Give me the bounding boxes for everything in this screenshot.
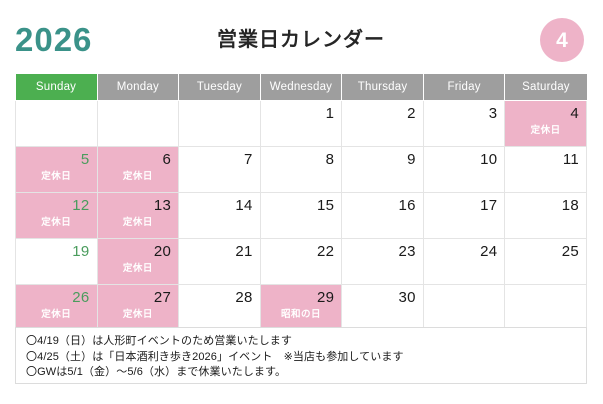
note-line: 〇4/19（日）は人形町イベントのため営業いたします: [26, 334, 576, 350]
calendar-day-cell[interactable]: 24: [423, 239, 505, 285]
day-number: 1: [261, 101, 342, 122]
calendar-day-cell[interactable]: 6定休日: [97, 147, 179, 193]
weekday-header-friday: Friday: [423, 74, 505, 101]
day-status-label: 昭和の日: [261, 309, 342, 321]
day-number: 4: [505, 101, 586, 122]
calendar-day-cell[interactable]: 23: [342, 239, 424, 285]
calendar-day-cell[interactable]: 30: [342, 285, 424, 331]
calendar-header: 2026 営業日カレンダー 4: [15, 10, 587, 70]
day-number: [98, 101, 179, 105]
weekday-header-sunday: Sunday: [16, 74, 98, 101]
day-number: 24: [424, 239, 505, 260]
calendar-day-cell[interactable]: 18: [505, 193, 587, 239]
day-status-label: 定休日: [98, 263, 179, 275]
calendar-week-row: 5定休日6定休日7891011: [16, 147, 587, 193]
note-line: 〇GWは5/1（金）〜5/6（水）まで休業いたします。: [26, 365, 576, 381]
calendar-day-cell[interactable]: 9: [342, 147, 424, 193]
calendar-week-row: 1234定休日: [16, 101, 587, 147]
day-number: 26: [16, 285, 97, 306]
day-number: 29: [261, 285, 342, 306]
day-number: 7: [179, 147, 260, 168]
calendar-day-cell[interactable]: 29昭和の日: [260, 285, 342, 331]
calendar-day-cell[interactable]: 20定休日: [97, 239, 179, 285]
day-number: 5: [16, 147, 97, 168]
calendar-day-cell[interactable]: 7: [179, 147, 261, 193]
weekday-header-wednesday: Wednesday: [260, 74, 342, 101]
day-status-label: 定休日: [16, 309, 97, 321]
day-number: 18: [505, 193, 586, 214]
calendar-day-cell[interactable]: 25: [505, 239, 587, 285]
day-number: 11: [505, 147, 586, 168]
calendar-day-cell[interactable]: 10: [423, 147, 505, 193]
calendar-day-cell[interactable]: 5定休日: [16, 147, 98, 193]
day-number: 30: [342, 285, 423, 306]
day-number: 21: [179, 239, 260, 260]
day-status-label: 定休日: [98, 171, 179, 183]
day-number: 20: [98, 239, 179, 260]
day-number: 16: [342, 193, 423, 214]
day-number: 13: [98, 193, 179, 214]
calendar-week-row: 26定休日27定休日2829昭和の日30: [16, 285, 587, 331]
day-status-label: 定休日: [98, 217, 179, 229]
calendar-day-cell[interactable]: 16: [342, 193, 424, 239]
calendar-empty-cell: [16, 101, 98, 147]
calendar-empty-cell: [423, 285, 505, 331]
day-status-label: 定休日: [16, 217, 97, 229]
day-number: 3: [424, 101, 505, 122]
calendar-day-cell[interactable]: 22: [260, 239, 342, 285]
weekday-header-saturday: Saturday: [505, 74, 587, 101]
day-number: 9: [342, 147, 423, 168]
calendar-header-row: Sunday Monday Tuesday Wednesday Thursday…: [16, 74, 587, 101]
day-number: [505, 285, 586, 289]
weekday-header-thursday: Thursday: [342, 74, 424, 101]
calendar-empty-cell: [179, 101, 261, 147]
day-number: 17: [424, 193, 505, 214]
calendar-day-cell[interactable]: 17: [423, 193, 505, 239]
day-number: 12: [16, 193, 97, 214]
month-badge: 4: [540, 18, 584, 62]
calendar-day-cell[interactable]: 8: [260, 147, 342, 193]
day-number: 6: [98, 147, 179, 168]
calendar-day-cell[interactable]: 3: [423, 101, 505, 147]
day-number: [16, 101, 97, 105]
day-status-label: 定休日: [16, 171, 97, 183]
calendar-day-cell[interactable]: 27定休日: [97, 285, 179, 331]
day-number: 28: [179, 285, 260, 306]
weekday-header-monday: Monday: [97, 74, 179, 101]
calendar-day-cell[interactable]: 28: [179, 285, 261, 331]
calendar-day-cell[interactable]: 26定休日: [16, 285, 98, 331]
page-title: 営業日カレンダー: [15, 26, 587, 54]
calendar-day-cell[interactable]: 15: [260, 193, 342, 239]
calendar-day-cell[interactable]: 13定休日: [97, 193, 179, 239]
calendar-grid: Sunday Monday Tuesday Wednesday Thursday…: [15, 74, 587, 331]
calendar-week-row: 12定休日13定休日1415161718: [16, 193, 587, 239]
calendar-page: 2026 営業日カレンダー 4 Sunday Monday Tuesday We…: [0, 0, 603, 404]
calendar-week-row: 1920定休日2122232425: [16, 239, 587, 285]
notes-box: 〇4/19（日）は人形町イベントのため営業いたします〇4/25（土）は「日本酒利…: [15, 327, 587, 384]
day-number: 14: [179, 193, 260, 214]
day-number: 19: [16, 239, 97, 260]
calendar-day-cell[interactable]: 19: [16, 239, 98, 285]
calendar-empty-cell: [97, 101, 179, 147]
weekday-header-tuesday: Tuesday: [179, 74, 261, 101]
calendar-body: 1234定休日5定休日6定休日789101112定休日13定休日14151617…: [16, 101, 587, 331]
calendar-day-cell[interactable]: 21: [179, 239, 261, 285]
calendar-day-cell[interactable]: 4定休日: [505, 101, 587, 147]
day-status-label: 定休日: [505, 125, 586, 137]
day-number: 25: [505, 239, 586, 260]
calendar-day-cell[interactable]: 2: [342, 101, 424, 147]
day-number: 8: [261, 147, 342, 168]
day-number: [424, 285, 505, 289]
day-number: 23: [342, 239, 423, 260]
note-line: 〇4/25（土）は「日本酒利き歩き2026」イベント ※当店も参加しています: [26, 350, 576, 366]
day-number: 10: [424, 147, 505, 168]
day-number: 27: [98, 285, 179, 306]
day-number: 22: [261, 239, 342, 260]
day-number: [179, 101, 260, 105]
day-number: 15: [261, 193, 342, 214]
calendar-empty-cell: [505, 285, 587, 331]
day-status-label: 定休日: [98, 309, 179, 321]
calendar-day-cell[interactable]: 12定休日: [16, 193, 98, 239]
calendar-day-cell[interactable]: 14: [179, 193, 261, 239]
calendar-day-cell[interactable]: 1: [260, 101, 342, 147]
calendar-day-cell[interactable]: 11: [505, 147, 587, 193]
day-number: 2: [342, 101, 423, 122]
